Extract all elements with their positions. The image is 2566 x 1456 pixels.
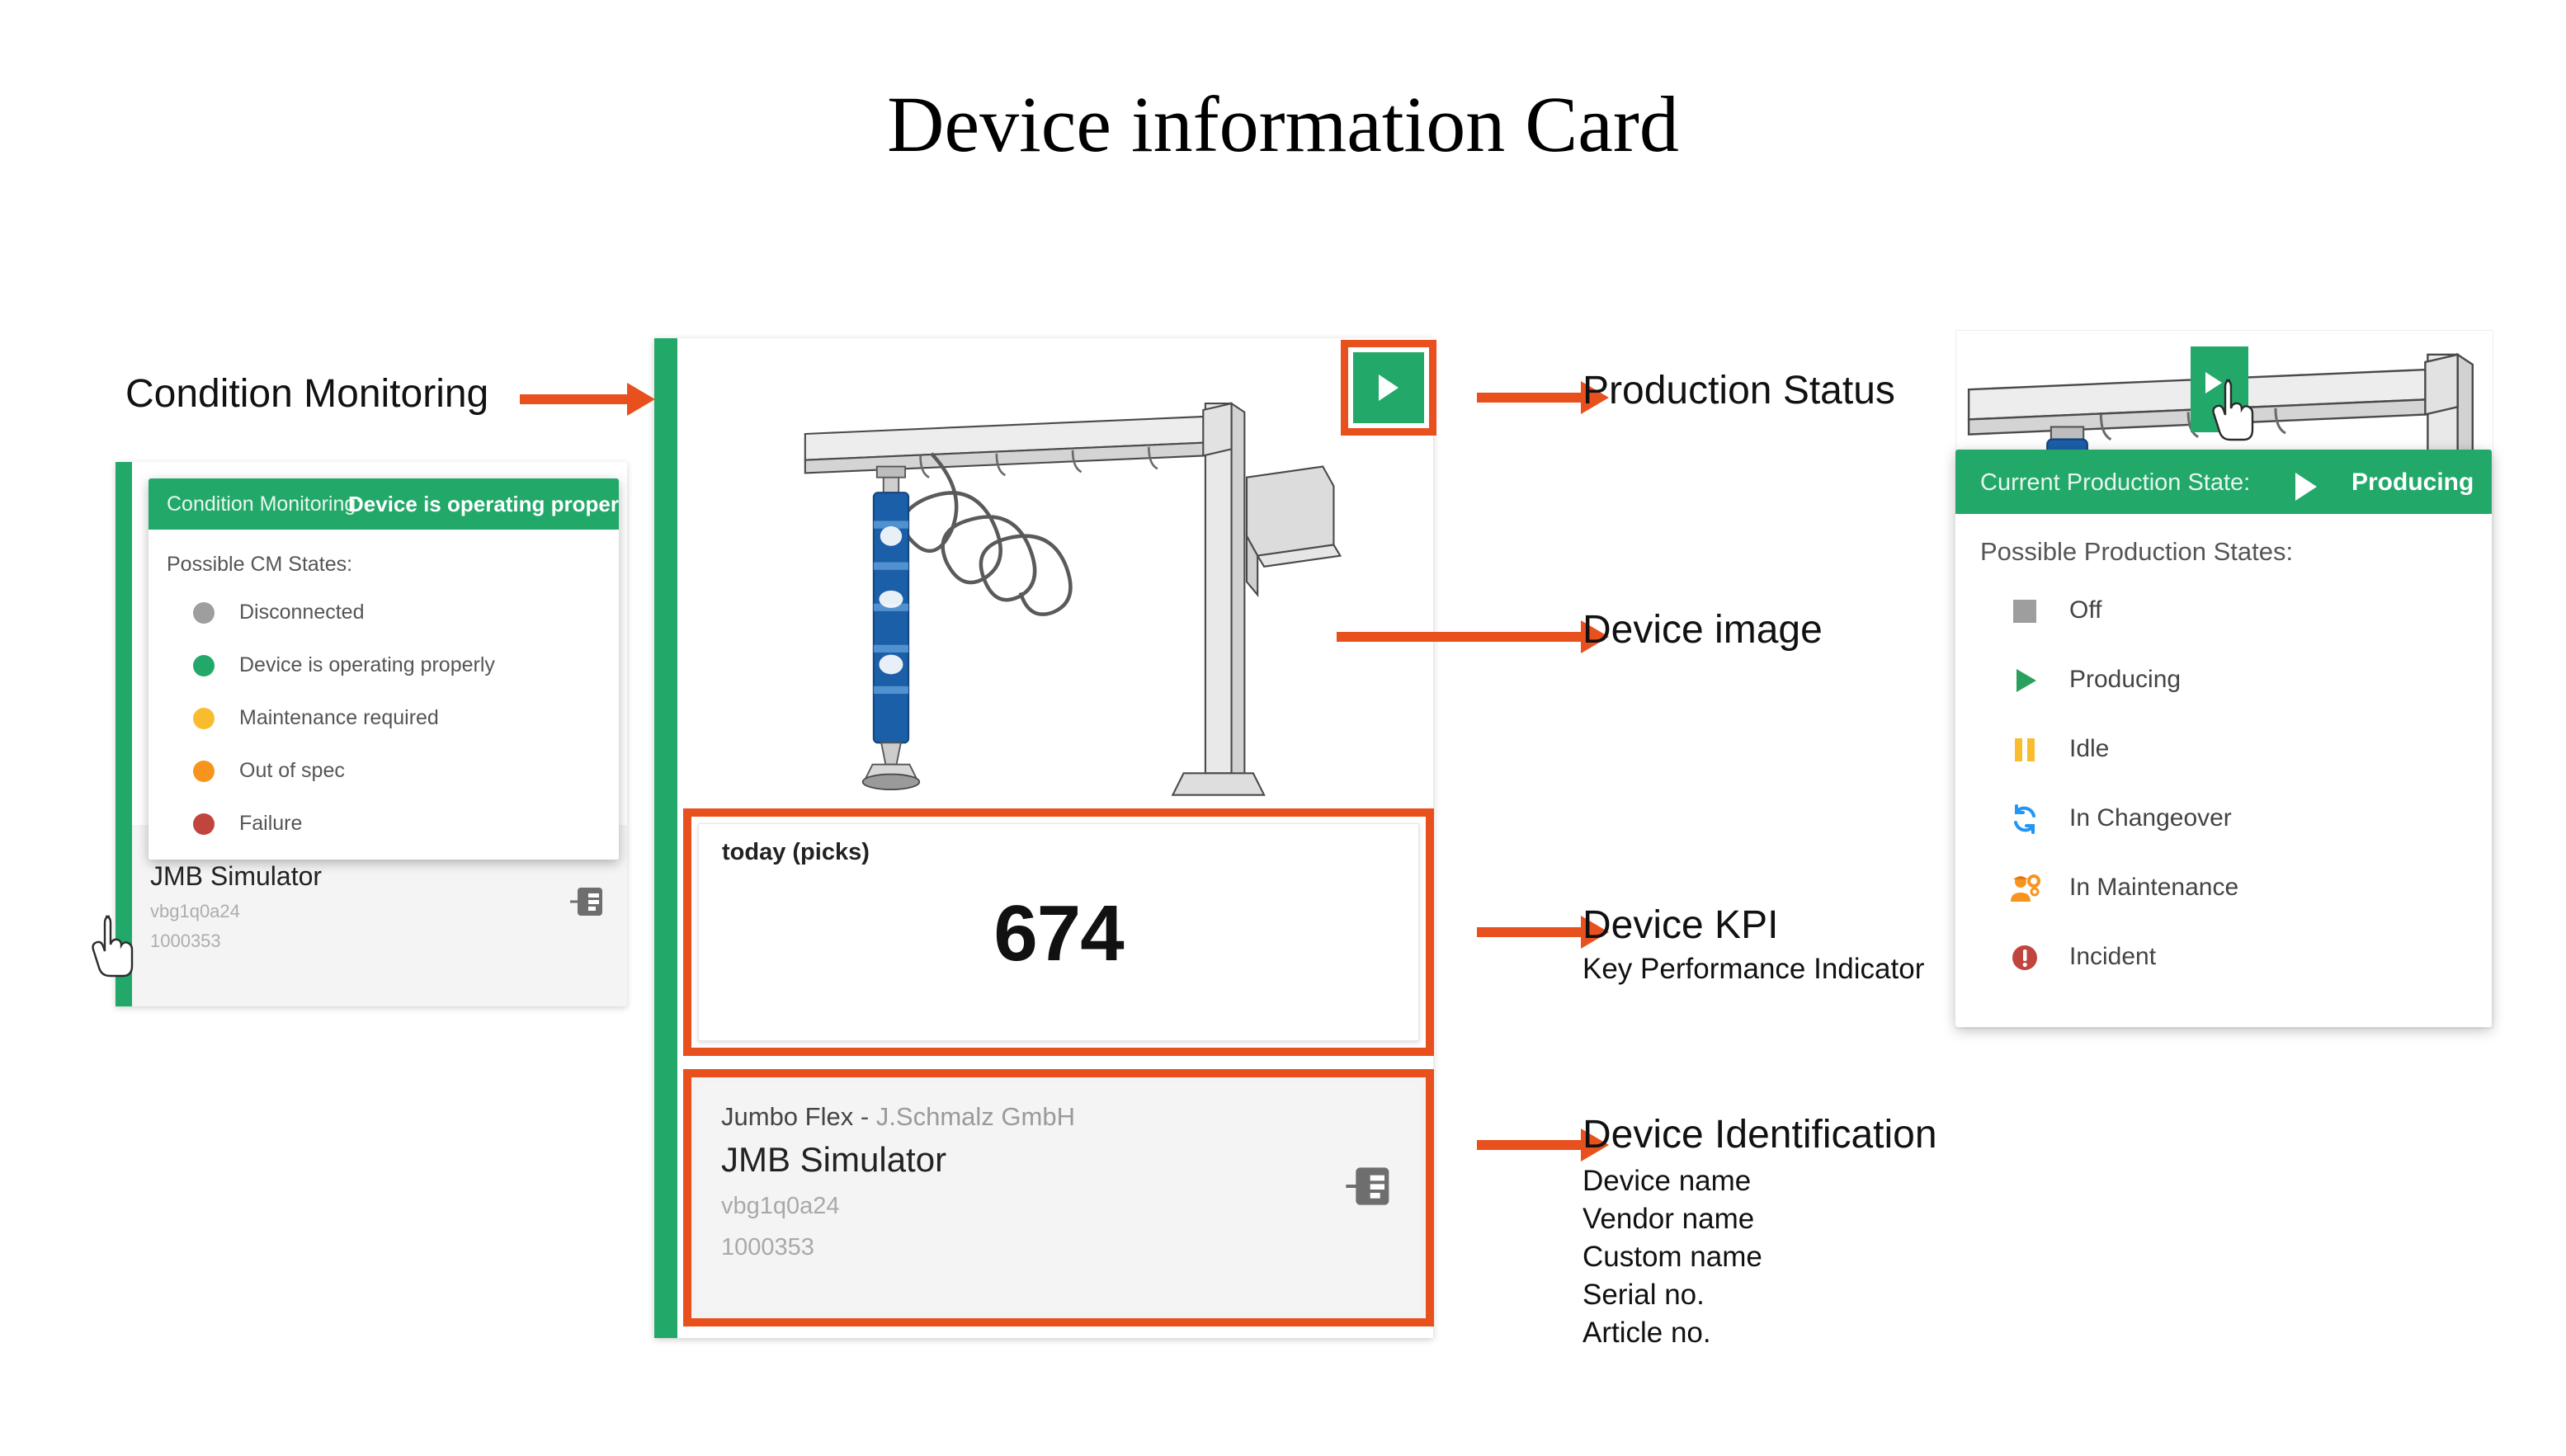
serial-no: vbg1q0a24 <box>721 1193 840 1220</box>
current-production-state-value: Producing <box>2351 469 2474 497</box>
pause-icon <box>2007 732 2043 768</box>
annotation-title-device-image: Device image <box>1583 607 1823 653</box>
worker-gear-icon <box>2007 870 2043 907</box>
play-icon <box>1379 375 1399 401</box>
cm-state-label: Maintenance required <box>239 706 439 730</box>
production-state-label: Off <box>2069 596 2101 624</box>
cm-state-label: Disconnected <box>239 601 364 624</box>
alert-exclamation-icon <box>2007 940 2043 976</box>
sep: - <box>853 1102 876 1131</box>
annotation-field-custom-name: Custom name <box>1583 1241 1762 1274</box>
annotation-field-serial-no: Serial no. <box>1583 1279 1705 1312</box>
condition-monitoring-accent-bar <box>654 338 677 1338</box>
cm-header-value: Device is operating properly <box>348 492 619 517</box>
production-state-label: Incident <box>2069 943 2156 971</box>
annotation-field-vendor-name: Vendor name <box>1583 1203 1754 1236</box>
left-serial-no: vbg1q0a24 <box>150 901 240 922</box>
kpi-value: 674 <box>699 888 1418 979</box>
cm-states-subtitle: Possible CM States: <box>167 553 352 577</box>
annotation-field-article-no: Article no. <box>1583 1317 1711 1350</box>
annotation-title-condition-monitoring: Condition Monitoring <box>125 371 488 417</box>
play-icon <box>2295 473 2317 501</box>
production-status-indicator <box>1353 352 1424 423</box>
article-no: 1000353 <box>721 1234 814 1261</box>
device-kpi-highlight: today (picks) 674 <box>683 808 1434 1056</box>
hand-pointer-cursor <box>91 912 137 978</box>
left-article-no: 1000353 <box>150 931 221 952</box>
device-identification-card[interactable]: Jumbo Flex - J.Schmalz GmbH JMB Simulato… <box>698 1084 1419 1312</box>
vendor-line: Jumbo Flex - J.Schmalz GmbH <box>721 1102 1075 1132</box>
cm-dot-icon <box>193 761 215 782</box>
changeover-arrows-icon <box>2007 801 2043 837</box>
cm-dot-icon <box>193 813 215 835</box>
annotation-sub-device-kpi: Key Performance Indicator <box>1583 953 1924 986</box>
production-status-button[interactable] <box>1341 340 1436 436</box>
production-state-label: In Changeover <box>2069 804 2232 832</box>
hand-pointer-cursor <box>2211 375 2257 441</box>
left-custom-name: JMB Simulator <box>150 861 322 892</box>
production-state-label: Idle <box>2069 735 2109 763</box>
device-details-icon[interactable] <box>569 884 604 919</box>
production-states-subtitle: Possible Production States: <box>1980 537 2293 567</box>
cm-popup-header: Condition Monitoring: Device is operatin… <box>149 478 619 530</box>
production-popup-header: Current Production State: Producing <box>1955 450 2492 514</box>
device-identification-highlight: Jumbo Flex - J.Schmalz GmbH JMB Simulato… <box>683 1069 1434 1326</box>
production-states-popup[interactable]: Current Production State: Producing Poss… <box>1955 450 2492 1027</box>
center-device-image <box>677 338 1433 817</box>
cm-dot-icon <box>193 602 215 624</box>
cm-state-label: Failure <box>239 812 302 836</box>
annotation-title-production-status: Production Status <box>1583 368 1895 413</box>
cm-state-label: Out of spec <box>239 759 345 783</box>
cm-dot-icon <box>193 655 215 676</box>
production-state-label: In Maintenance <box>2069 874 2238 902</box>
device-kpi-card[interactable]: today (picks) 674 <box>698 823 1419 1041</box>
annotation-field-device-name: Device name <box>1583 1165 1751 1198</box>
page-title: Device information Card <box>0 78 2566 170</box>
production-popup-body: Possible Production States: Off Producin… <box>1955 514 2492 1027</box>
cm-dot-icon <box>193 708 215 729</box>
annotation-title-device-identification: Device Identification <box>1583 1112 1937 1157</box>
vendor-name: J.Schmalz GmbH <box>876 1102 1075 1131</box>
condition-monitoring-popup[interactable]: Condition Monitoring: Device is operatin… <box>149 478 619 860</box>
cm-popup-body: Possible CM States: Disconnected Device … <box>149 530 619 860</box>
stop-square-icon <box>2007 593 2043 629</box>
annotation-title-device-kpi: Device KPI <box>1583 902 1778 948</box>
kpi-label: today (picks) <box>722 839 870 866</box>
cm-state-label: Device is operating properly <box>239 653 495 677</box>
production-state-label: Producing <box>2069 666 2181 694</box>
device-details-icon[interactable] <box>1345 1163 1391 1209</box>
custom-name: JMB Simulator <box>721 1140 946 1180</box>
play-icon <box>2007 662 2043 699</box>
model-name: Jumbo Flex <box>721 1102 853 1131</box>
current-production-state-label: Current Production State: <box>1980 469 2250 497</box>
cm-header-label: Condition Monitoring: <box>167 492 361 516</box>
